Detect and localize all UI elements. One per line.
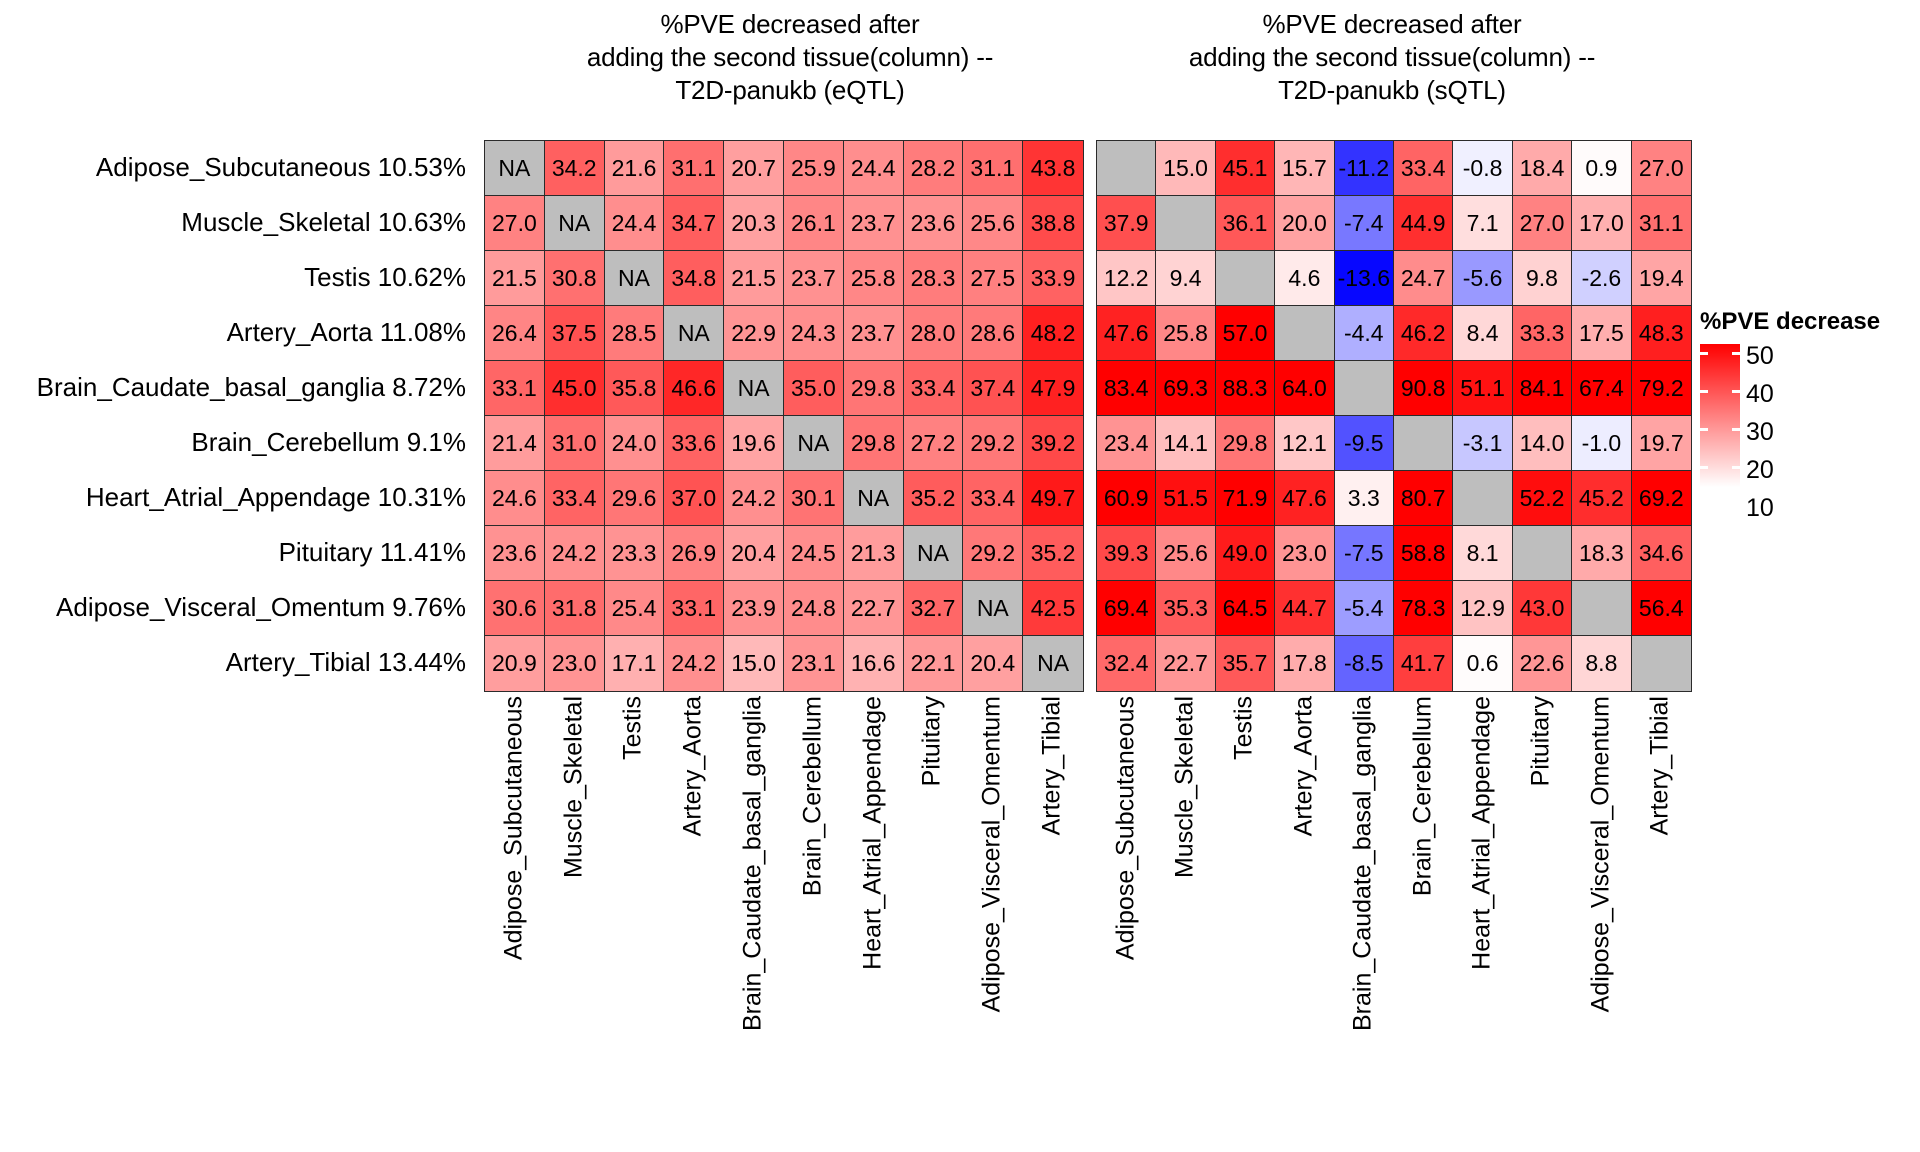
heatmap-cell: -5.6 bbox=[1453, 251, 1512, 306]
heatmap-cell: -2.6 bbox=[1572, 251, 1631, 306]
column-label: Artery_Tibial bbox=[1040, 696, 1065, 835]
row-label: Pituitary 11.41% bbox=[0, 525, 476, 580]
heatmap-cell: 28.6 bbox=[963, 306, 1023, 361]
heatmap-cell: 79.2 bbox=[1632, 361, 1691, 416]
column-label: Testis bbox=[1232, 696, 1257, 760]
heatmap-cell: 23.6 bbox=[485, 526, 545, 581]
heatmap-cell: 22.6 bbox=[1513, 636, 1572, 691]
heatmap-cell: 64.5 bbox=[1216, 581, 1275, 636]
heatmap-cell: 20.4 bbox=[963, 636, 1023, 691]
heatmap-cell: 80.7 bbox=[1394, 471, 1453, 526]
heatmap-cell: -9.5 bbox=[1335, 416, 1394, 471]
heatmap-cell: 21.3 bbox=[844, 526, 904, 581]
column-axis-labels-sqtl: Adipose_SubcutaneousMuscle_SkeletalTesti… bbox=[1096, 696, 1690, 1076]
column-label-slot: Brain_Cerebellum bbox=[1393, 696, 1452, 1076]
row-axis-labels: Adipose_Subcutaneous 10.53%Muscle_Skelet… bbox=[0, 140, 476, 690]
heatmap-cell: 23.1 bbox=[784, 636, 844, 691]
heatmap-cell bbox=[1097, 141, 1156, 196]
heatmap-cell: 64.0 bbox=[1275, 361, 1334, 416]
heatmap-cell: 35.8 bbox=[605, 361, 665, 416]
column-label-slot: Pituitary bbox=[1512, 696, 1571, 1076]
heatmap-cell: 27.0 bbox=[1632, 141, 1691, 196]
heatmap-cell: 8.1 bbox=[1453, 526, 1512, 581]
legend-tick-label: 20 bbox=[1746, 458, 1774, 483]
legend-tick-mark bbox=[1700, 466, 1708, 469]
heatmap-cell: 24.3 bbox=[784, 306, 844, 361]
heatmap-cell: 49.7 bbox=[1023, 471, 1083, 526]
heatmap-cell: 17.0 bbox=[1572, 196, 1631, 251]
heatmap-cell: 18.3 bbox=[1572, 526, 1631, 581]
heatmap-figure: %PVE decreased after adding the second t… bbox=[0, 0, 1920, 1152]
column-label-slot: Adipose_Visceral_Omentum bbox=[1571, 696, 1630, 1076]
heatmap-cell: -8.5 bbox=[1335, 636, 1394, 691]
heatmap-cell: 20.9 bbox=[485, 636, 545, 691]
heatmap-cell: 21.6 bbox=[605, 141, 665, 196]
heatmap-cell: 24.4 bbox=[605, 196, 665, 251]
heatmap-cell: 22.1 bbox=[904, 636, 964, 691]
heatmap-cell: NA bbox=[904, 526, 964, 581]
heatmap-cell: 12.1 bbox=[1275, 416, 1334, 471]
heatmap-cell: 37.5 bbox=[545, 306, 605, 361]
heatmap-cell: 24.5 bbox=[784, 526, 844, 581]
heatmap-cell: 35.3 bbox=[1156, 581, 1215, 636]
heatmap-cell: 44.7 bbox=[1275, 581, 1334, 636]
column-label: Brain_Caudate_basal_ganglia bbox=[741, 696, 766, 1031]
heatmap-cell: 33.4 bbox=[545, 471, 605, 526]
heatmap-cell: 36.1 bbox=[1216, 196, 1275, 251]
heatmap-cell: 25.9 bbox=[784, 141, 844, 196]
heatmap-cell: 43.8 bbox=[1023, 141, 1083, 196]
heatmap-cell: 14.0 bbox=[1513, 416, 1572, 471]
column-label-slot: Brain_Caudate_basal_ganglia bbox=[723, 696, 783, 1076]
heatmap-cell: NA bbox=[963, 581, 1023, 636]
heatmap-cell: 31.8 bbox=[545, 581, 605, 636]
heatmap-cell: 12.9 bbox=[1453, 581, 1512, 636]
heatmap-cell: -7.5 bbox=[1335, 526, 1394, 581]
heatmap-cell: 19.4 bbox=[1632, 251, 1691, 306]
column-label: Artery_Aorta bbox=[1291, 696, 1316, 836]
heatmap-cell: 23.0 bbox=[545, 636, 605, 691]
heatmap-cell: -0.8 bbox=[1453, 141, 1512, 196]
heatmap-cell bbox=[1572, 581, 1631, 636]
heatmap-cell: 29.6 bbox=[605, 471, 665, 526]
heatmap-cell: 29.8 bbox=[1216, 416, 1275, 471]
heatmap-cell: 24.6 bbox=[485, 471, 545, 526]
heatmap-cell: 23.7 bbox=[844, 306, 904, 361]
heatmap-cell: 27.0 bbox=[485, 196, 545, 251]
column-label: Adipose_Subcutaneous bbox=[1113, 696, 1138, 960]
heatmap-cell: 39.3 bbox=[1097, 526, 1156, 581]
heatmap-cell: 24.7 bbox=[1394, 251, 1453, 306]
column-label: Heart_Atrial_Appendage bbox=[860, 696, 885, 970]
column-label-slot: Artery_Aorta bbox=[1274, 696, 1333, 1076]
heatmap-cell: 33.6 bbox=[664, 416, 724, 471]
heatmap-cell: 35.0 bbox=[784, 361, 844, 416]
column-label-slot: Adipose_Subcutaneous bbox=[1096, 696, 1155, 1076]
heatmap-cell: 24.0 bbox=[605, 416, 665, 471]
heatmap-cell: 22.9 bbox=[724, 306, 784, 361]
heatmap-cell: 23.3 bbox=[605, 526, 665, 581]
heatmap-cell: 35.7 bbox=[1216, 636, 1275, 691]
column-label: Testis bbox=[621, 696, 646, 760]
panel-title-sqtl: %PVE decreased after adding the second t… bbox=[1072, 8, 1712, 107]
heatmap-cell: 0.6 bbox=[1453, 636, 1512, 691]
heatmap-cell: 33.4 bbox=[904, 361, 964, 416]
heatmap-cell: 3.3 bbox=[1335, 471, 1394, 526]
heatmap-cell bbox=[1216, 251, 1275, 306]
legend-tick-label: 10 bbox=[1746, 496, 1774, 521]
heatmap-cell: 83.4 bbox=[1097, 361, 1156, 416]
heatmap-cell: NA bbox=[724, 361, 784, 416]
heatmap-cell: 48.3 bbox=[1632, 306, 1691, 361]
heatmap-cell: 23.6 bbox=[904, 196, 964, 251]
heatmap-cell: 34.2 bbox=[545, 141, 605, 196]
heatmap-cell: 24.2 bbox=[545, 526, 605, 581]
heatmap-cell: 19.6 bbox=[724, 416, 784, 471]
heatmap-cell: 35.2 bbox=[904, 471, 964, 526]
heatmap-cell: 20.7 bbox=[724, 141, 784, 196]
heatmap-cell: 57.0 bbox=[1216, 306, 1275, 361]
heatmap-cell: 9.4 bbox=[1156, 251, 1215, 306]
heatmap-cell bbox=[1394, 416, 1453, 471]
heatmap-cell: 45.0 bbox=[545, 361, 605, 416]
column-label-slot: Heart_Atrial_Appendage bbox=[843, 696, 903, 1076]
panel-title-eqtl: %PVE decreased after adding the second t… bbox=[470, 8, 1110, 107]
heatmap-cell bbox=[1275, 306, 1334, 361]
heatmap-cell: 20.0 bbox=[1275, 196, 1334, 251]
heatmap-cell: 30.1 bbox=[784, 471, 844, 526]
legend-tick-label: 30 bbox=[1746, 420, 1774, 445]
heatmap-cell: -11.2 bbox=[1335, 141, 1394, 196]
heatmap-cell: 60.9 bbox=[1097, 471, 1156, 526]
heatmap-cell: 33.4 bbox=[963, 471, 1023, 526]
legend-tick-label: 50 bbox=[1746, 344, 1774, 369]
heatmap-cell: 25.6 bbox=[1156, 526, 1215, 581]
column-label: Artery_Tibial bbox=[1648, 696, 1673, 835]
heatmap-cell: 15.0 bbox=[724, 636, 784, 691]
heatmap-cell: 51.5 bbox=[1156, 471, 1215, 526]
heatmap-cell bbox=[1453, 471, 1512, 526]
heatmap-cell: 23.0 bbox=[1275, 526, 1334, 581]
column-label-slot: Testis bbox=[1215, 696, 1274, 1076]
heatmap-cell: 34.8 bbox=[664, 251, 724, 306]
heatmap-cell: 24.8 bbox=[784, 581, 844, 636]
heatmap-cell: 47.6 bbox=[1275, 471, 1334, 526]
heatmap-cell: 29.8 bbox=[844, 361, 904, 416]
heatmap-cell: 26.9 bbox=[664, 526, 724, 581]
heatmap-cell: 21.5 bbox=[485, 251, 545, 306]
heatmap-cell: 8.4 bbox=[1453, 306, 1512, 361]
heatmap-cell: 17.8 bbox=[1275, 636, 1334, 691]
heatmap-cell: 38.8 bbox=[1023, 196, 1083, 251]
column-label: Artery_Aorta bbox=[681, 696, 706, 836]
heatmap-cell: 69.2 bbox=[1632, 471, 1691, 526]
heatmap-cell: 29.2 bbox=[963, 526, 1023, 581]
row-label: Artery_Aorta 11.08% bbox=[0, 305, 476, 360]
heatmap-cell: NA bbox=[485, 141, 545, 196]
legend-colorbar bbox=[1700, 344, 1740, 487]
legend-tick-mark bbox=[1700, 428, 1708, 431]
heatmap-cell: 84.1 bbox=[1513, 361, 1572, 416]
heatmap-cell: 14.1 bbox=[1156, 416, 1215, 471]
column-label: Adipose_Visceral_Omentum bbox=[980, 696, 1005, 1012]
heatmap-cell: 24.4 bbox=[844, 141, 904, 196]
heatmap-cell: -7.4 bbox=[1335, 196, 1394, 251]
heatmap-cell: 0.9 bbox=[1572, 141, 1631, 196]
legend-tick-mark bbox=[1732, 390, 1740, 393]
heatmap-cell: 37.9 bbox=[1097, 196, 1156, 251]
heatmap-cell: 69.3 bbox=[1156, 361, 1215, 416]
heatmap-cell: 31.1 bbox=[1632, 196, 1691, 251]
heatmap-cell: 27.0 bbox=[1513, 196, 1572, 251]
heatmap-cell: 15.7 bbox=[1275, 141, 1334, 196]
column-label: Adipose_Visceral_Omentum bbox=[1588, 696, 1613, 1012]
heatmap-cell: 24.2 bbox=[724, 471, 784, 526]
heatmap-cell: 22.7 bbox=[1156, 636, 1215, 691]
heatmap-cell: 25.8 bbox=[1156, 306, 1215, 361]
column-label: Muscle_Skeletal bbox=[1173, 696, 1198, 878]
column-label-slot: Brain_Caudate_basal_ganglia bbox=[1334, 696, 1393, 1076]
heatmap-cell: 45.1 bbox=[1216, 141, 1275, 196]
heatmap-cell: 30.8 bbox=[545, 251, 605, 306]
heatmap-cell: NA bbox=[784, 416, 844, 471]
column-label-slot: Adipose_Visceral_Omentum bbox=[962, 696, 1022, 1076]
heatmap-cell: 31.1 bbox=[963, 141, 1023, 196]
heatmap-cell: 21.5 bbox=[724, 251, 784, 306]
heatmap-cell: 33.9 bbox=[1023, 251, 1083, 306]
heatmap-cell: 23.9 bbox=[724, 581, 784, 636]
row-label: Brain_Caudate_basal_ganglia 8.72% bbox=[0, 360, 476, 415]
heatmap-cell: 37.0 bbox=[664, 471, 724, 526]
column-label: Muscle_Skeletal bbox=[561, 696, 586, 878]
column-label: Pituitary bbox=[1529, 696, 1554, 786]
heatmap-cell: -3.1 bbox=[1453, 416, 1512, 471]
heatmap-cell: -1.0 bbox=[1572, 416, 1631, 471]
heatmap-cell: 43.0 bbox=[1513, 581, 1572, 636]
heatmap-cell: 4.6 bbox=[1275, 251, 1334, 306]
heatmap-cell bbox=[1513, 526, 1572, 581]
heatmap-cell: 71.9 bbox=[1216, 471, 1275, 526]
heatmap-cell: NA bbox=[605, 251, 665, 306]
legend-tick-mark bbox=[1732, 352, 1740, 355]
heatmap-cell: 30.6 bbox=[485, 581, 545, 636]
heatmap-cell: 12.2 bbox=[1097, 251, 1156, 306]
heatmap-cell: 27.2 bbox=[904, 416, 964, 471]
heatmap-cell: 31.0 bbox=[545, 416, 605, 471]
heatmap-cell: 8.8 bbox=[1572, 636, 1631, 691]
heatmap-cell: 58.8 bbox=[1394, 526, 1453, 581]
heatmap-cell: 37.4 bbox=[963, 361, 1023, 416]
heatmap-cell: 29.2 bbox=[963, 416, 1023, 471]
row-label: Heart_Atrial_Appendage 10.31% bbox=[0, 470, 476, 525]
heatmap-cell: 17.5 bbox=[1572, 306, 1631, 361]
heatmap-cell: 35.2 bbox=[1023, 526, 1083, 581]
heatmap-cell: 46.6 bbox=[664, 361, 724, 416]
row-label: Brain_Cerebellum 9.1% bbox=[0, 415, 476, 470]
heatmap-cell: -5.4 bbox=[1335, 581, 1394, 636]
heatmap-cell: 41.7 bbox=[1394, 636, 1453, 691]
heatmap-cell: 32.4 bbox=[1097, 636, 1156, 691]
heatmap-cell: 15.0 bbox=[1156, 141, 1215, 196]
heatmap-cell: NA bbox=[1023, 636, 1083, 691]
column-label: Adipose_Subcutaneous bbox=[501, 696, 526, 960]
legend-tick-labels: 5040302010 bbox=[1746, 344, 1826, 524]
heatmap-cell: -13.6 bbox=[1335, 251, 1394, 306]
heatmap-cell: 34.7 bbox=[664, 196, 724, 251]
legend: %PVE decrease 5040302010 bbox=[1700, 310, 1915, 524]
column-label: Heart_Atrial_Appendage bbox=[1470, 696, 1495, 970]
column-label: Pituitary bbox=[920, 696, 945, 786]
heatmap-cell: 23.7 bbox=[784, 251, 844, 306]
column-label-slot: Artery_Tibial bbox=[1631, 696, 1690, 1076]
heatmap-cell: 23.7 bbox=[844, 196, 904, 251]
heatmap-cell: 45.2 bbox=[1572, 471, 1631, 526]
heatmap-cell: 28.3 bbox=[904, 251, 964, 306]
legend-tick-mark bbox=[1732, 466, 1740, 469]
row-label: Muscle_Skeletal 10.63% bbox=[0, 195, 476, 250]
heatmap-cell: 25.6 bbox=[963, 196, 1023, 251]
heatmap-cell: 78.3 bbox=[1394, 581, 1453, 636]
heatmap-cell bbox=[1632, 636, 1691, 691]
column-axis-labels-eqtl: Adipose_SubcutaneousMuscle_SkeletalTesti… bbox=[484, 696, 1082, 1076]
heatmap-cell: -4.4 bbox=[1335, 306, 1394, 361]
heatmap-cell: 90.8 bbox=[1394, 361, 1453, 416]
heatmap-cell: 56.4 bbox=[1632, 581, 1691, 636]
heatmap-cell: NA bbox=[664, 306, 724, 361]
heatmap-cell: NA bbox=[844, 471, 904, 526]
heatmap-cell: 52.2 bbox=[1513, 471, 1572, 526]
row-label: Testis 10.62% bbox=[0, 250, 476, 305]
heatmap-grid-sqtl: 15.045.115.7-11.233.4-0.818.40.927.037.9… bbox=[1096, 140, 1692, 692]
heatmap-cell bbox=[1156, 196, 1215, 251]
heatmap-grid-eqtl: NA34.221.631.120.725.924.428.231.143.827… bbox=[484, 140, 1084, 692]
heatmap-cell: 24.2 bbox=[664, 636, 724, 691]
heatmap-cell: 28.2 bbox=[904, 141, 964, 196]
heatmap-cell: 20.4 bbox=[724, 526, 784, 581]
heatmap-cell: 32.7 bbox=[904, 581, 964, 636]
heatmap-cell: 88.3 bbox=[1216, 361, 1275, 416]
heatmap-cell: 25.4 bbox=[605, 581, 665, 636]
heatmap-cell: 33.3 bbox=[1513, 306, 1572, 361]
legend-tick-mark bbox=[1700, 390, 1708, 393]
column-label-slot: Heart_Atrial_Appendage bbox=[1452, 696, 1511, 1076]
column-label-slot: Adipose_Subcutaneous bbox=[484, 696, 544, 1076]
legend-tick-mark bbox=[1732, 428, 1740, 431]
heatmap-cell: 47.6 bbox=[1097, 306, 1156, 361]
heatmap-cell bbox=[1335, 361, 1394, 416]
heatmap-cell: 33.1 bbox=[664, 581, 724, 636]
legend-tick-label: 40 bbox=[1746, 382, 1774, 407]
heatmap-cell: 42.5 bbox=[1023, 581, 1083, 636]
heatmap-cell: 7.1 bbox=[1453, 196, 1512, 251]
heatmap-cell: 49.0 bbox=[1216, 526, 1275, 581]
legend-tick-mark bbox=[1700, 352, 1708, 355]
heatmap-cell: 44.9 bbox=[1394, 196, 1453, 251]
row-label: Adipose_Subcutaneous 10.53% bbox=[0, 140, 476, 195]
heatmap-cell: 23.4 bbox=[1097, 416, 1156, 471]
heatmap-cell: 25.8 bbox=[844, 251, 904, 306]
column-label: Brain_Caudate_basal_ganglia bbox=[1351, 696, 1376, 1031]
heatmap-cell: 67.4 bbox=[1572, 361, 1631, 416]
column-label-slot: Muscle_Skeletal bbox=[1155, 696, 1214, 1076]
column-label-slot: Testis bbox=[604, 696, 664, 1076]
heatmap-cell: 69.4 bbox=[1097, 581, 1156, 636]
column-label-slot: Brain_Cerebellum bbox=[783, 696, 843, 1076]
heatmap-cell: 21.4 bbox=[485, 416, 545, 471]
heatmap-cell: 17.1 bbox=[605, 636, 665, 691]
heatmap-cell: 39.2 bbox=[1023, 416, 1083, 471]
column-label-slot: Muscle_Skeletal bbox=[544, 696, 604, 1076]
heatmap-cell: 19.7 bbox=[1632, 416, 1691, 471]
heatmap-cell: 51.1 bbox=[1453, 361, 1512, 416]
column-label: Brain_Cerebellum bbox=[1410, 696, 1435, 896]
row-label: Artery_Tibial 13.44% bbox=[0, 635, 476, 690]
heatmap-cell: 33.1 bbox=[485, 361, 545, 416]
heatmap-cell: 31.1 bbox=[664, 141, 724, 196]
heatmap-cell: 20.3 bbox=[724, 196, 784, 251]
column-label-slot: Pituitary bbox=[903, 696, 963, 1076]
heatmap-cell: 29.8 bbox=[844, 416, 904, 471]
heatmap-cell: 46.2 bbox=[1394, 306, 1453, 361]
legend-title: %PVE decrease bbox=[1700, 310, 1915, 334]
row-label: Adipose_Visceral_Omentum 9.76% bbox=[0, 580, 476, 635]
column-label: Brain_Cerebellum bbox=[800, 696, 825, 896]
heatmap-cell: NA bbox=[545, 196, 605, 251]
heatmap-cell: 34.6 bbox=[1632, 526, 1691, 581]
heatmap-cell: 26.4 bbox=[485, 306, 545, 361]
heatmap-cell: 47.9 bbox=[1023, 361, 1083, 416]
heatmap-cell: 28.0 bbox=[904, 306, 964, 361]
heatmap-cell: 28.5 bbox=[605, 306, 665, 361]
heatmap-cell: 48.2 bbox=[1023, 306, 1083, 361]
heatmap-cell: 33.4 bbox=[1394, 141, 1453, 196]
heatmap-cell: 27.5 bbox=[963, 251, 1023, 306]
heatmap-cell: 16.6 bbox=[844, 636, 904, 691]
column-label-slot: Artery_Tibial bbox=[1022, 696, 1082, 1076]
column-label-slot: Artery_Aorta bbox=[663, 696, 723, 1076]
heatmap-cell: 9.8 bbox=[1513, 251, 1572, 306]
heatmap-cell: 26.1 bbox=[784, 196, 844, 251]
heatmap-cell: 22.7 bbox=[844, 581, 904, 636]
heatmap-cell: 18.4 bbox=[1513, 141, 1572, 196]
